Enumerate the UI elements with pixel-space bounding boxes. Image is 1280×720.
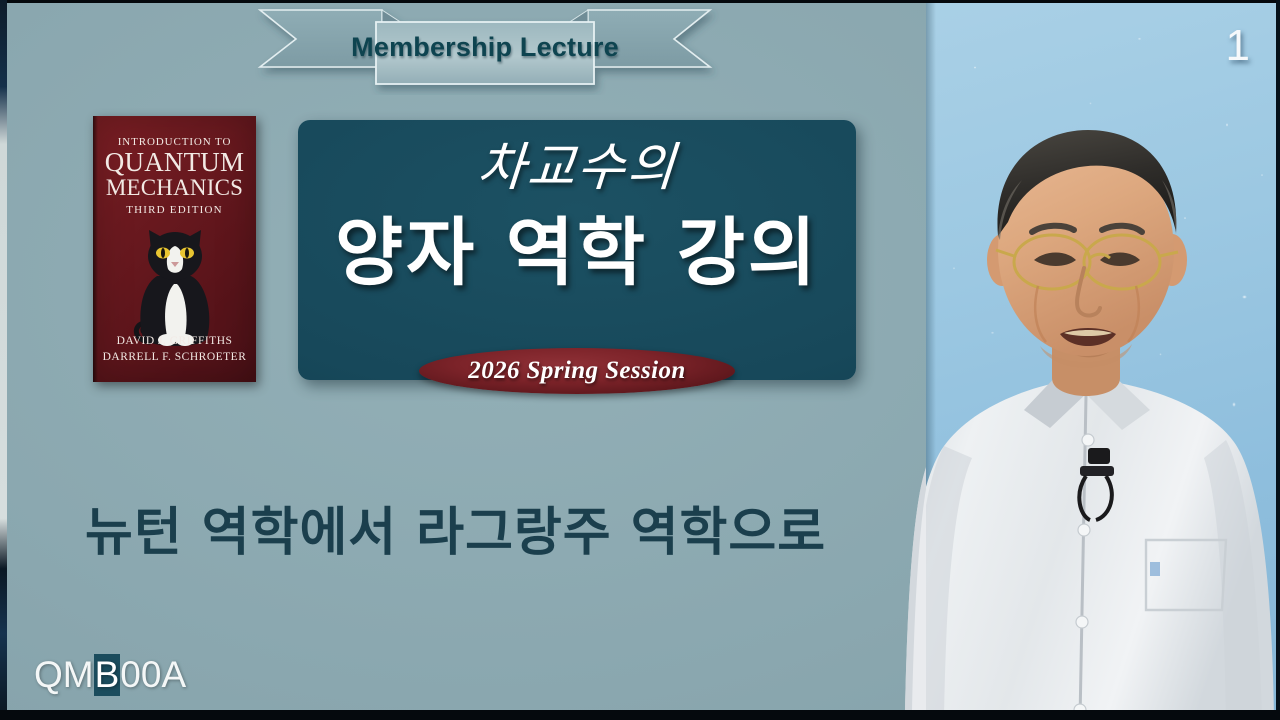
- page-number: 1: [1226, 21, 1250, 71]
- shirt-logo: [1150, 562, 1160, 576]
- main-title-panel: 차교수의 양자 역학 강의 2026 Spring Session: [298, 120, 856, 380]
- banner-title-text: Membership Lecture: [250, 5, 720, 95]
- book-line-quantum: QUANTUM: [93, 149, 256, 177]
- session-badge-text: 2026 Spring Session: [468, 357, 685, 385]
- book-edition: THIRD EDITION: [93, 204, 256, 216]
- title-handwritten-line: 차교수의: [296, 142, 858, 194]
- slide-code-highlight: B: [94, 654, 121, 696]
- book-author-1: DAVID J. GRIFFITHS: [93, 335, 256, 347]
- frame-edge-left: [0, 0, 7, 720]
- session-badge: 2026 Spring Session: [419, 348, 735, 394]
- frame-edge-top: [0, 0, 1280, 3]
- slide-code-footer: QMB00A: [34, 654, 186, 696]
- book-line-mechanics: MECHANICS: [93, 175, 256, 201]
- title-main-line: 양자 역학 강의: [298, 216, 856, 290]
- slide-code-suffix: 00A: [120, 654, 186, 696]
- book-author-2: DARRELL F. SCHROETER: [93, 351, 256, 363]
- frame-edge-right: [1276, 0, 1280, 720]
- presenter-portrait: [926, 110, 1276, 720]
- slide-code-prefix: QM: [34, 654, 94, 696]
- slide-stage: Membership Lecture INTRODUCTION TO QUANT…: [0, 0, 1280, 720]
- frame-edge-bottom: [0, 710, 1280, 720]
- ribbon-banner: Membership Lecture: [250, 5, 720, 95]
- textbook-cover: INTRODUCTION TO QUANTUM MECHANICS THIRD …: [93, 116, 256, 382]
- slide-subtitle: 뉴턴 역학에서 라그랑주 역학으로: [85, 490, 885, 565]
- presenter-webcam-overlay: 1: [926, 3, 1276, 720]
